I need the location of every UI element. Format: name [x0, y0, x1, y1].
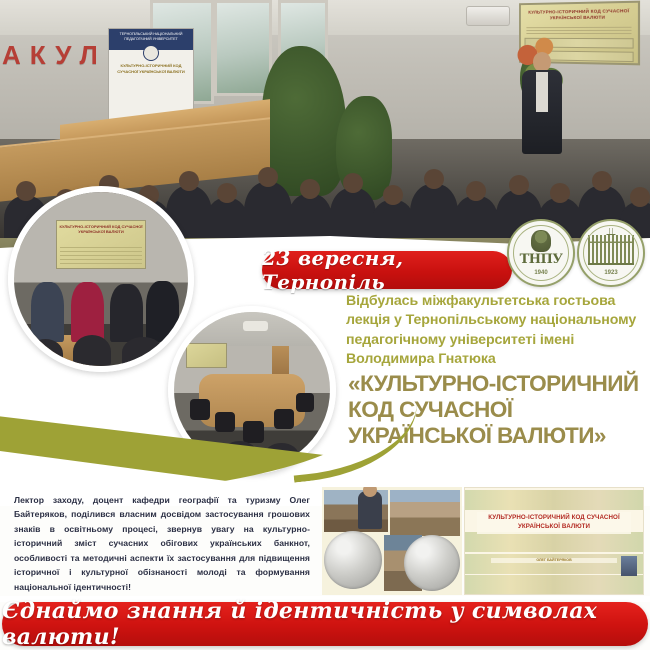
date-location-badge: 23 вересня, Тернопіль: [262, 251, 512, 289]
chair: [190, 399, 210, 419]
portrait-seal-icon: ТНПУ 1940: [507, 219, 575, 287]
event-description-paragraph: Лектор заходу, доцент кафедри географії …: [14, 493, 310, 594]
projected-slide-rows: [60, 247, 142, 265]
university-seals-group: ТНПУ 1940 1923: [505, 216, 647, 290]
projected-slide-title: КУЛЬТУРНО-ІСТОРИЧНИЙ КОД СУЧАСНОЇ УКРАЇН…: [57, 224, 145, 234]
event-announcement-poster: АКУЛЬТЕ КУЛЬТУРНО-ІСТОРИЧНИЙ КОД СУЧАСНО…: [0, 0, 650, 650]
date-location-text: 23 вересня, Тернопіль: [262, 246, 512, 294]
coin-icon: [324, 531, 382, 589]
seal-year: 1940: [509, 270, 573, 276]
foreground-heads: [14, 331, 188, 366]
presenters-circle-photo: КУЛЬТУРНО-ІСТОРИЧНИЙ КОД СУЧАСНОЇ УКРАЇН…: [8, 186, 194, 372]
presentation-slide-banknotes: КУЛЬТУРНО-ІСТОРИЧНИЙ КОД СУЧАСНОЇ УКРАЇН…: [464, 487, 644, 595]
projected-slide: КУЛЬТУРНО-ІСТОРИЧНИЙ КОД СУЧАСНОЇ УКРАЇН…: [56, 220, 146, 269]
slide-author-text: ОЛЕГ БАЙТЕРЯКОВ: [491, 558, 617, 563]
seal-portrait-figure: [531, 230, 551, 252]
speaker-shirt: [536, 72, 548, 112]
slogan-banner: Єднаймо знання й ідентичність у символах…: [2, 602, 648, 646]
banner-stand-body-text: КУЛЬТУРНО-ІСТОРИЧНИЙ КОД СУЧАСНОЇ УКРАЇН…: [109, 63, 193, 74]
projection-slide-title: КУЛЬТУРНО-ІСТОРИЧНИЙ КОД СУЧАСНОЇ УКРАЇН…: [521, 8, 638, 22]
seal-abbreviation: ТНПУ: [509, 252, 573, 267]
banknote-row: [465, 554, 643, 574]
person-holding-coin: [358, 491, 382, 529]
trident-icon: [607, 228, 616, 238]
event-headline: Відбулась міжфакультетська гостьова лекц…: [346, 292, 646, 369]
projected-slide: [186, 343, 227, 368]
landscape-photo: [390, 490, 460, 536]
building-seal-icon: 1923: [577, 219, 645, 287]
ceiling-projector-icon: [243, 321, 268, 330]
banknote-row: [465, 575, 643, 595]
commemorative-coins-photo: [322, 487, 462, 595]
chair: [215, 412, 235, 432]
slogan-text: Єднаймо знання й ідентичність у символах…: [2, 598, 648, 650]
air-conditioner-icon: [466, 6, 510, 26]
door: [272, 346, 289, 377]
banknote-row: [465, 490, 643, 510]
university-logo-icon: [143, 45, 159, 61]
coin-icon: [404, 535, 460, 591]
slide-title-text: КУЛЬТУРНО-ІСТОРИЧНИЙ КОД СУЧАСНОЇ УКРАЇН…: [477, 512, 631, 534]
window: [214, 0, 272, 96]
seal-year: 1923: [579, 270, 643, 276]
seal-building-figure: [588, 235, 634, 265]
speaker-head: [533, 52, 551, 72]
banknote-row: [465, 532, 643, 552]
banner-stand-top-text: ТЕРНОПІЛЬСЬКИЙ НАЦІОНАЛЬНИЙ ПЕДАГОГІЧНИЙ…: [109, 29, 193, 41]
slide-portrait: [621, 556, 637, 576]
